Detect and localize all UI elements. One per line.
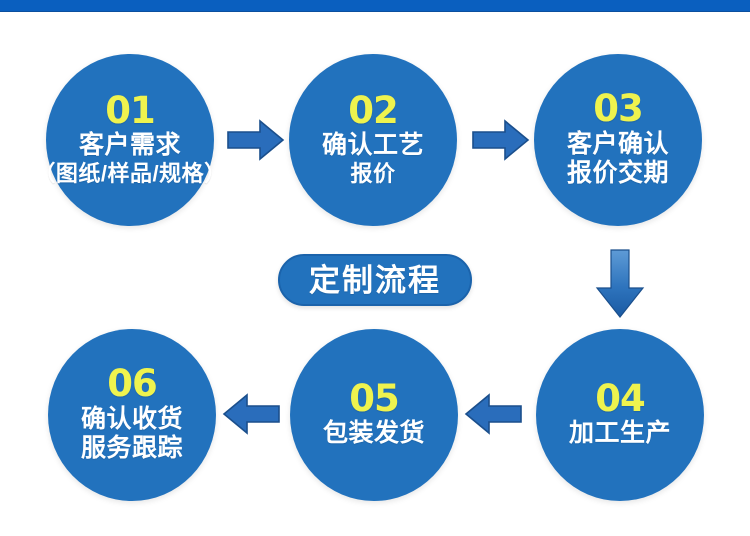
center-title-label: 定制流程 bbox=[309, 265, 441, 296]
step-label-line: 报价交期 bbox=[567, 159, 669, 189]
step-number-06: 06 bbox=[107, 366, 157, 401]
step-circle-05[interactable]: 05 包装发货 bbox=[290, 329, 458, 501]
step-circle-03[interactable]: 03 客户确认 报价交期 bbox=[534, 54, 702, 226]
step-circle-02[interactable]: 02 确认工艺 报价 bbox=[289, 54, 457, 226]
arrow-left-icon-04-05 bbox=[464, 392, 522, 436]
step-label-04: 加工生产 bbox=[569, 419, 671, 449]
step-number-01: 01 bbox=[105, 93, 155, 128]
step-number-02: 02 bbox=[348, 93, 398, 128]
step-label-line: 客户确认 bbox=[567, 130, 669, 160]
step-label-line: 确认收货 bbox=[81, 405, 183, 435]
top-accent-bar bbox=[0, 0, 750, 12]
arrow-down-icon-03-04 bbox=[589, 248, 651, 320]
step-label-line: 确认工艺 bbox=[322, 131, 424, 161]
step-circle-01[interactable]: 01 客户需求 （图纸/样品/规格） bbox=[46, 54, 214, 226]
step-number-04: 04 bbox=[595, 381, 645, 416]
step-circle-04[interactable]: 04 加工生产 bbox=[536, 329, 704, 501]
step-label-line: 加工生产 bbox=[569, 419, 671, 449]
step-label-06: 确认收货 服务跟踪 bbox=[81, 405, 183, 464]
step-label-line: 服务跟踪 bbox=[81, 434, 183, 464]
step-label-line: 包装发货 bbox=[323, 419, 425, 449]
step-circle-06[interactable]: 06 确认收货 服务跟踪 bbox=[48, 329, 216, 501]
step-label-05: 包装发货 bbox=[323, 419, 425, 449]
step-label-02: 确认工艺 报价 bbox=[322, 131, 424, 186]
arrow-left-icon-05-06 bbox=[222, 392, 280, 436]
arrow-right-icon-01-02 bbox=[227, 118, 285, 162]
step-number-05: 05 bbox=[349, 381, 399, 416]
step-label-01: 客户需求 （图纸/样品/规格） bbox=[33, 131, 226, 186]
flow-diagram-canvas: 01 客户需求 （图纸/样品/规格） 02 确认工艺 报价 03 客户确认 报价… bbox=[0, 0, 750, 536]
step-label-03: 客户确认 报价交期 bbox=[567, 130, 669, 189]
step-label-line: 客户需求 bbox=[79, 131, 181, 161]
step-label-line: （图纸/样品/规格） bbox=[33, 161, 226, 187]
step-label-line: 报价 bbox=[350, 161, 395, 187]
arrow-right-icon-02-03 bbox=[472, 118, 530, 162]
center-title-badge: 定制流程 bbox=[278, 254, 472, 306]
step-number-03: 03 bbox=[593, 91, 643, 126]
